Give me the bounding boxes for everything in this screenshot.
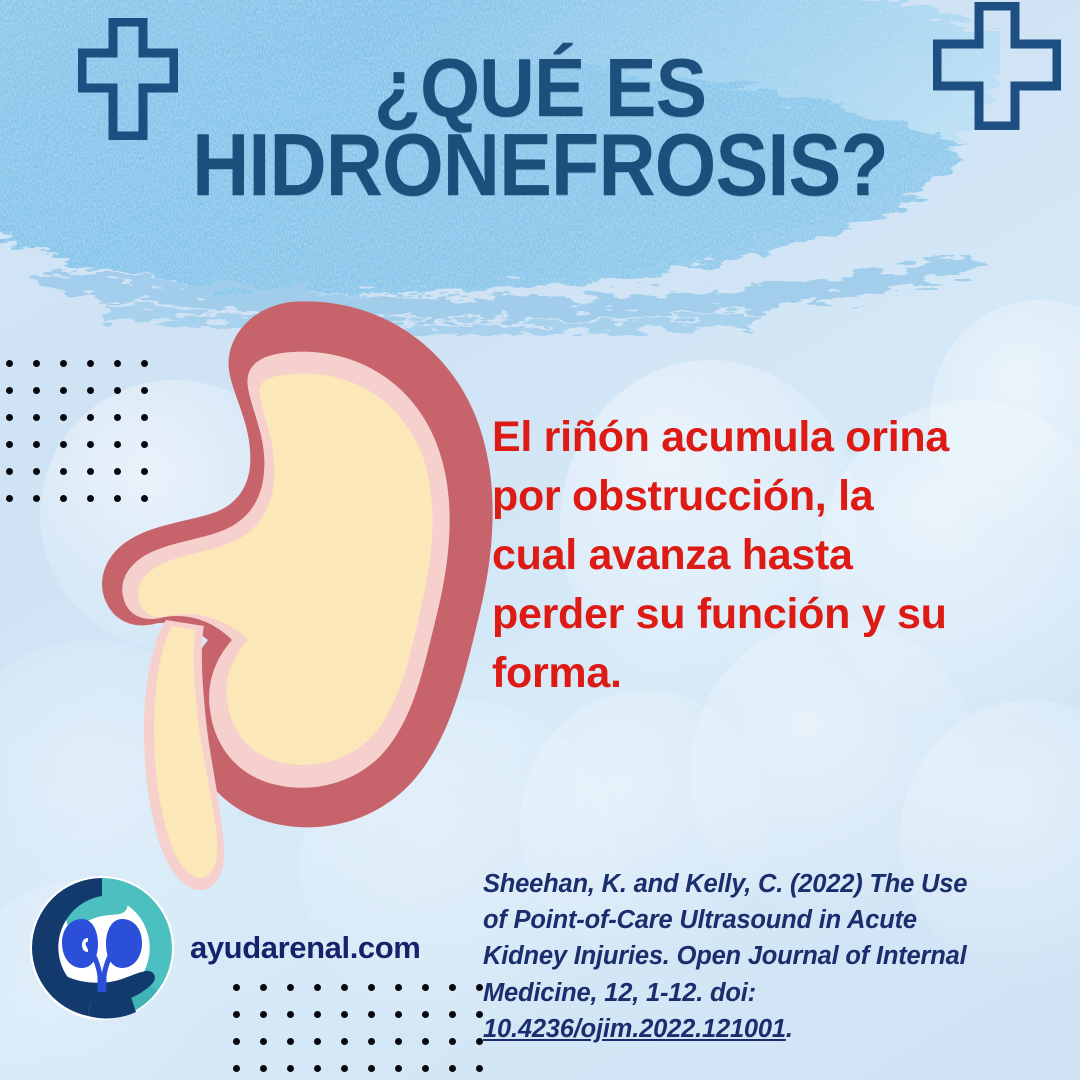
grid-dot: [33, 495, 40, 502]
grid-dot: [449, 1011, 456, 1018]
grid-dot: [60, 387, 67, 394]
title-line-1: ¿QUÉ ES: [38, 52, 1042, 123]
grid-dot: [114, 414, 121, 421]
infographic-poster: ¿QUÉ ES HIDRONEFROSIS? El riñón acumula …: [0, 0, 1080, 1080]
doi-link[interactable]: 10.4236/ojim.2022.121001: [483, 1015, 786, 1043]
grid-dot: [449, 1065, 456, 1072]
grid-dot: [114, 468, 121, 475]
grid-dot: [60, 495, 67, 502]
dot-grid-left: [6, 360, 176, 530]
grid-dot: [33, 387, 40, 394]
hands-cradling-kidneys-icon: [26, 872, 178, 1024]
brand-logo[interactable]: ayudarenal.com: [26, 872, 420, 1024]
grid-dot: [422, 1065, 429, 1072]
grid-dot: [341, 1038, 348, 1045]
grid-dot: [422, 984, 429, 991]
grid-dot: [476, 1038, 483, 1045]
grid-dot: [260, 1065, 267, 1072]
citation-line: of Point-of-Care Ultrasound in Acute: [483, 902, 1043, 938]
grid-dot: [422, 1011, 429, 1018]
grid-dot: [87, 495, 94, 502]
grid-dot: [449, 984, 456, 991]
title-line-2: HIDRONEFROSIS?: [54, 127, 1026, 203]
grid-dot: [60, 414, 67, 421]
grid-dot: [260, 1038, 267, 1045]
grid-dot: [6, 360, 13, 367]
citation-line: Kidney Injuries. Open Journal of Interna…: [483, 938, 1043, 974]
grid-dot: [368, 1038, 375, 1045]
grid-dot: [114, 360, 121, 367]
citation-line: Sheehan, K. and Kelly, C. (2022) The Use: [483, 866, 1043, 902]
grid-dot: [114, 441, 121, 448]
grid-dot: [33, 441, 40, 448]
body-text: El riñón acumula orina por obstrucción, …: [492, 408, 1052, 703]
grid-dot: [60, 360, 67, 367]
grid-dot: [141, 495, 148, 502]
grid-dot: [87, 441, 94, 448]
doi-period: .: [786, 1015, 793, 1043]
grid-dot: [141, 387, 148, 394]
body-line: cual avanza hasta: [492, 526, 1052, 585]
grid-dot: [114, 495, 121, 502]
grid-dot: [476, 1011, 483, 1018]
grid-dot: [449, 1038, 456, 1045]
grid-dot: [60, 468, 67, 475]
grid-dot: [287, 1038, 294, 1045]
grid-dot: [87, 414, 94, 421]
grid-dot: [141, 360, 148, 367]
grid-dot: [368, 1065, 375, 1072]
citation-doi-line: 10.4236/ojim.2022.121001.: [483, 1011, 1043, 1047]
grid-dot: [314, 1065, 321, 1072]
grid-dot: [33, 468, 40, 475]
grid-dot: [114, 387, 121, 394]
grid-dot: [141, 414, 148, 421]
grid-dot: [6, 468, 13, 475]
grid-dot: [141, 468, 148, 475]
page-title: ¿QUÉ ES HIDRONEFROSIS?: [0, 52, 1080, 203]
grid-dot: [476, 984, 483, 991]
grid-dot: [476, 1065, 483, 1072]
grid-dot: [287, 1065, 294, 1072]
grid-dot: [6, 441, 13, 448]
brand-name: ayudarenal.com: [190, 930, 420, 966]
grid-dot: [87, 387, 94, 394]
grid-dot: [6, 387, 13, 394]
body-line: forma.: [492, 644, 1052, 703]
body-line: perder su función y su: [492, 585, 1052, 644]
body-line: por obstrucción, la: [492, 467, 1052, 526]
grid-dot: [395, 1065, 402, 1072]
grid-dot: [422, 1038, 429, 1045]
citation-block: Sheehan, K. and Kelly, C. (2022) The Use…: [483, 866, 1043, 1047]
grid-dot: [314, 1038, 321, 1045]
grid-dot: [341, 1065, 348, 1072]
grid-dot: [87, 360, 94, 367]
hydronephrotic-kidney-illustration: [40, 290, 520, 910]
body-line: El riñón acumula orina: [492, 408, 1052, 467]
grid-dot: [233, 1065, 240, 1072]
grid-dot: [87, 468, 94, 475]
grid-dot: [233, 1038, 240, 1045]
grid-dot: [6, 414, 13, 421]
grid-dot: [33, 414, 40, 421]
grid-dot: [60, 441, 67, 448]
grid-dot: [141, 441, 148, 448]
grid-dot: [33, 360, 40, 367]
citation-line: Medicine, 12, 1-12. doi:: [483, 975, 1043, 1011]
grid-dot: [6, 495, 13, 502]
grid-dot: [395, 1038, 402, 1045]
